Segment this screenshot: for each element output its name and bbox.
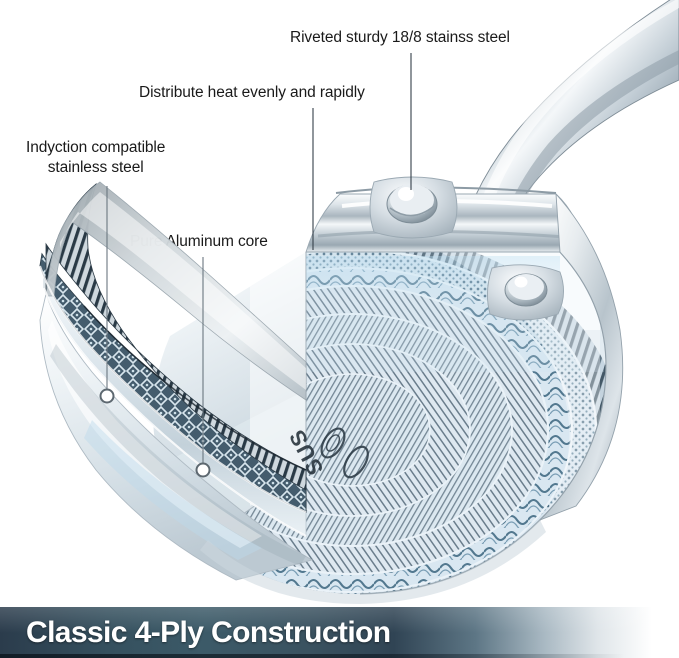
- bottom-banner: Classic 4-Ply Construction: [0, 607, 679, 658]
- banner-title: Classic 4-Ply Construction: [26, 616, 391, 650]
- rivet-secondary: [487, 265, 563, 320]
- product-infographic: SUS: [0, 0, 679, 658]
- pan-illustration: SUS: [0, 0, 679, 610]
- rivet-primary: [370, 177, 457, 238]
